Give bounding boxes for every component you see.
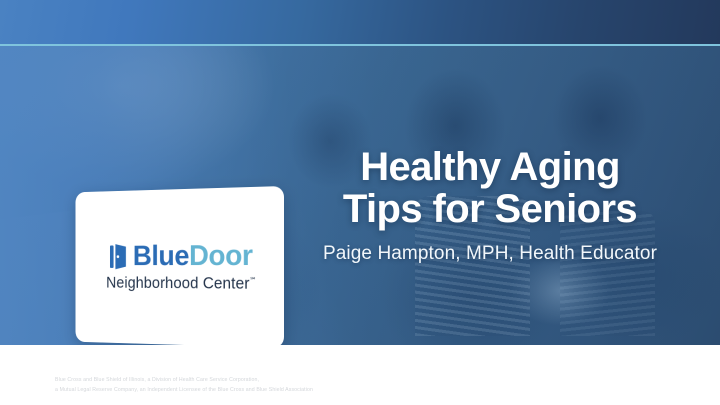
brand-word-primary: Blue: [133, 240, 189, 272]
header-band: [0, 0, 720, 46]
hero-stage: BlueDoor Neighborhood Center℠ Healthy Ag…: [0, 46, 720, 345]
brand-tagline-text: Neighborhood Center: [106, 274, 249, 292]
legal-disclaimer: Blue Cross and Blue Shield of Illinois, …: [55, 376, 313, 395]
slide-subtitle-presenter: Paige Hampton, MPH, Health Educator: [300, 243, 680, 265]
title-block: Healthy Aging Tips for Seniors Paige Ham…: [300, 146, 680, 265]
brand-logo: BlueDoor Neighborhood Center℠: [106, 241, 256, 293]
presentation-title-slide: BlueDoor Neighborhood Center℠ Healthy Ag…: [0, 0, 720, 405]
slide-title-line-1: Healthy Aging: [300, 146, 680, 188]
brand-logo-card: BlueDoor Neighborhood Center℠: [75, 186, 284, 345]
brand-word-secondary: Door: [189, 239, 253, 272]
footer-band: Blue Cross and Blue Shield of Illinois, …: [0, 345, 720, 405]
legal-disclaimer-line-2: a Mutual Legal Reserve Company, an Indep…: [55, 386, 313, 396]
slide-title-line-2: Tips for Seniors: [300, 188, 680, 230]
brand-logo-row: BlueDoor: [110, 241, 253, 271]
service-mark-symbol: ℠: [250, 277, 257, 284]
brand-tagline: Neighborhood Center℠: [106, 274, 256, 293]
legal-disclaimer-line-1: Blue Cross and Blue Shield of Illinois, …: [55, 376, 313, 386]
brand-wordmark: BlueDoor: [133, 241, 253, 271]
open-door-icon: [110, 243, 127, 269]
